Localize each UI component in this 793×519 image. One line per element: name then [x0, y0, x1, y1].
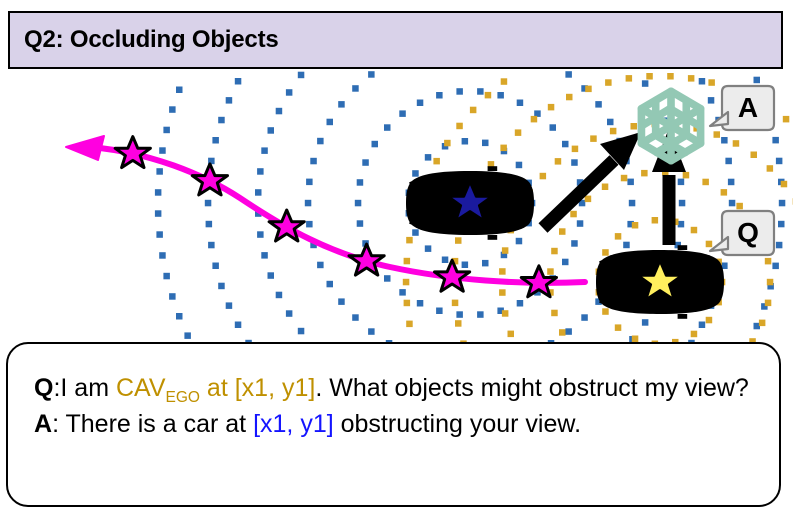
blue-car: [data-name="blue-car"] .car-body{fill:#2… — [406, 166, 534, 240]
trajectory-star-marker — [115, 137, 150, 168]
question-part-3: . What objects might obstruct my view? — [315, 374, 748, 402]
openai-logo — [641, 91, 700, 160]
cav-ego-label: CAVEGO — [116, 374, 200, 402]
answer-bubble-label: A — [738, 92, 758, 123]
question-bubble-label: Q — [737, 217, 759, 248]
qa-panel: Q:I am CAVEGO at [x1, y1]. What objects … — [6, 342, 781, 507]
page-title: Q2: Occluding Objects — [10, 28, 279, 52]
slide-header: Q2: Occluding Objects — [8, 11, 783, 69]
question-coordinate: [x1, y1] — [235, 374, 316, 402]
cav-ego-text: CAV — [116, 374, 166, 402]
answer-tag: A — [34, 410, 52, 438]
trajectory-star-marker — [349, 244, 384, 275]
question-tag: Q — [34, 374, 53, 402]
answer-line: A: There is a car at [x1, y1] obstructin… — [34, 408, 757, 440]
qa-text-block: Q:I am CAVEGO at [x1, y1]. What objects … — [34, 372, 757, 440]
answer-part-1: : There is a car at — [52, 410, 253, 438]
cav-ego-subscript: EGO — [166, 389, 200, 406]
answer-bubble: A — [710, 86, 774, 130]
question-bubble: Q — [710, 211, 774, 255]
slide-canvas: [data-name="blue-car"] .car-body{fill:#2… — [0, 0, 793, 519]
question-line: Q:I am CAVEGO at [x1, y1]. What objects … — [34, 372, 757, 408]
question-part-1: :I am — [53, 374, 116, 402]
answer-coordinate: [x1, y1] — [253, 410, 334, 438]
question-part-2: at — [200, 374, 235, 402]
answer-part-2: obstructing your view. — [334, 410, 581, 438]
yellow-car: [data-name="yellow-car"] .car-body{fill:… — [596, 245, 724, 319]
